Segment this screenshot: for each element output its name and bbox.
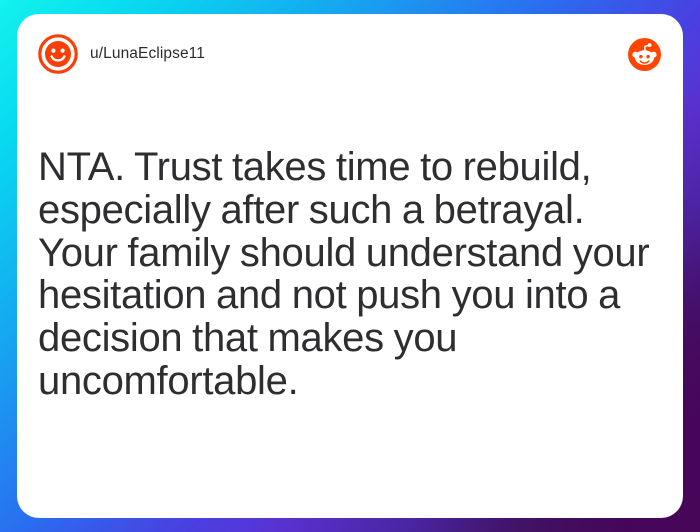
card-body: NTA. Trust takes time to rebuild, especi…: [38, 146, 655, 403]
post-text: NTA. Trust takes time to rebuild, especi…: [38, 146, 655, 403]
screenshot-stage: u/LunaEclipse11 NTA. Trust takes time to…: [0, 0, 700, 532]
username-label[interactable]: u/LunaEclipse11: [90, 45, 205, 63]
smiley-face-avatar-icon[interactable]: [38, 34, 78, 74]
reddit-snoo-icon[interactable]: [628, 38, 661, 71]
card-header: u/LunaEclipse11: [17, 14, 683, 94]
reddit-comment-card: u/LunaEclipse11 NTA. Trust takes time to…: [17, 14, 683, 518]
